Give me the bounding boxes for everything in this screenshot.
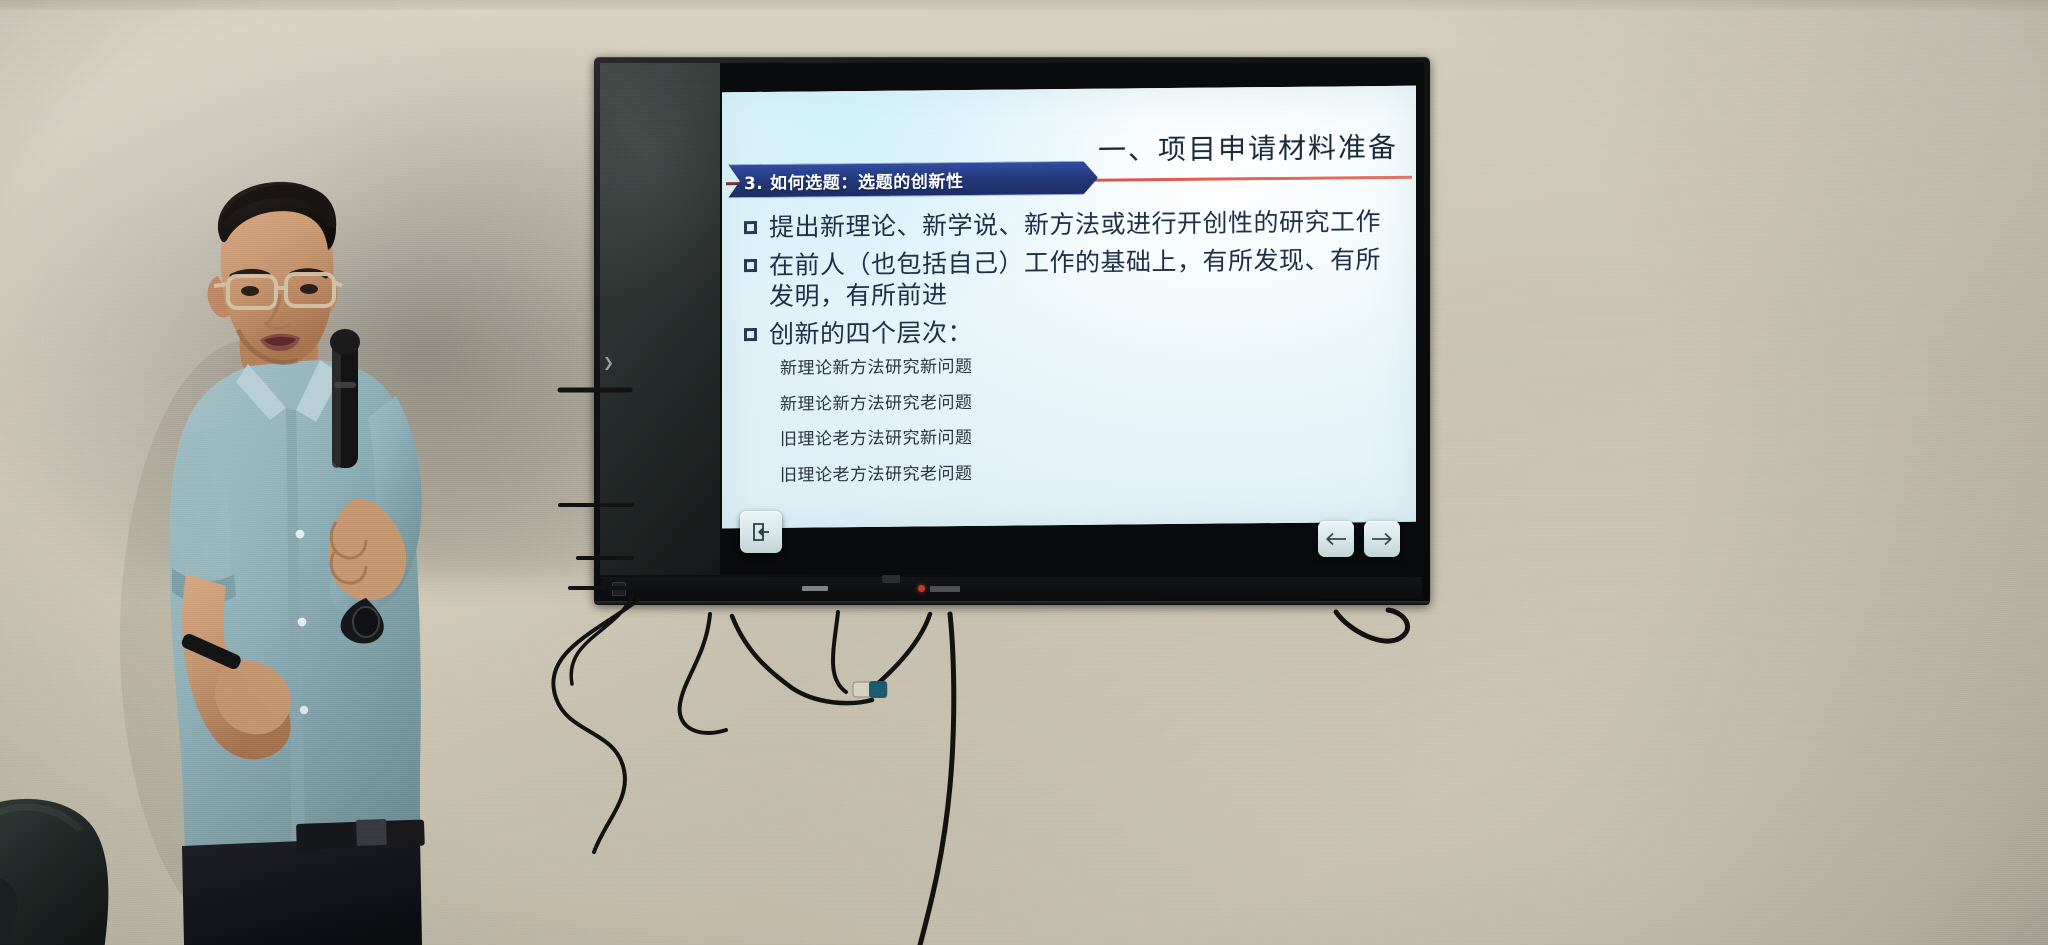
room-scene: 一、项目申请材料准备 3. 如何选题：选题的创新性 提出新理论、新学说、新方法或… [0, 0, 2048, 945]
photo-vignette [0, 0, 2048, 945]
